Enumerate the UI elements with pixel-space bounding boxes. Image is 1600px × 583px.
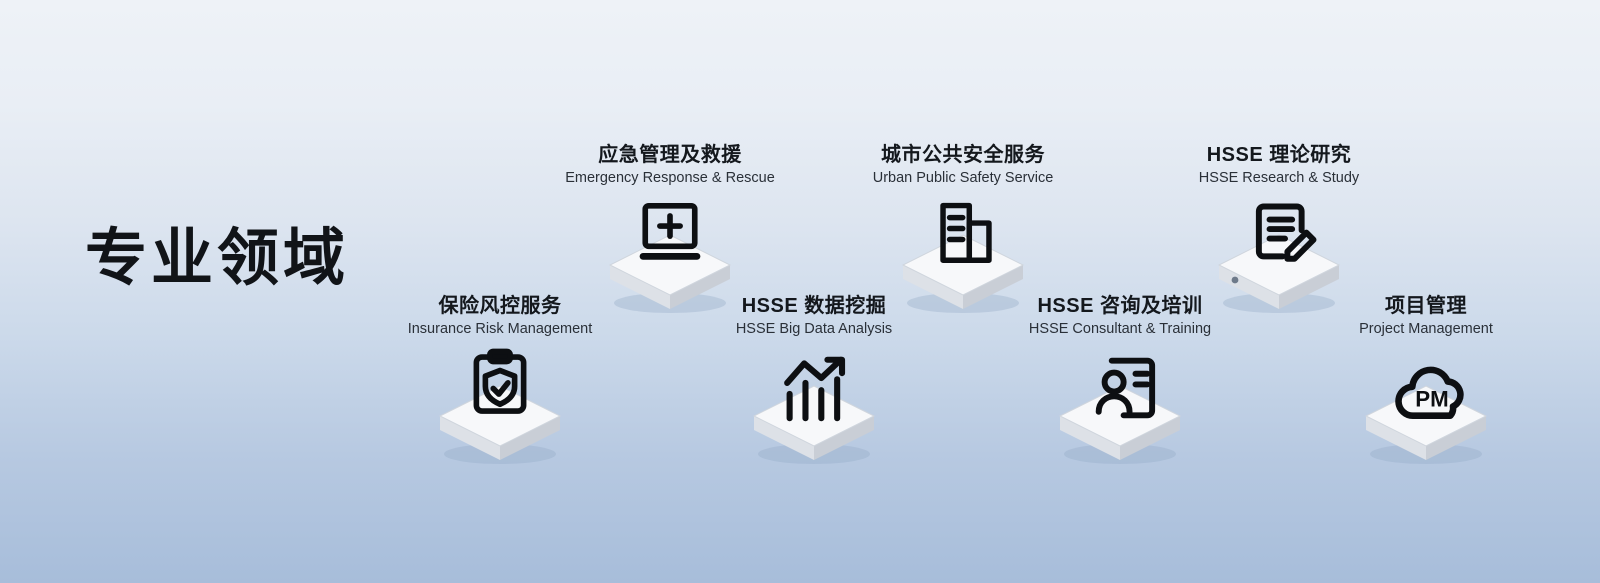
domain-label-en: Emergency Response & Rescue: [520, 170, 820, 187]
domain-item-hsse-consultant-training[interactable]: HSSE 咨询及培训 HSSE Consultant & Training: [970, 295, 1270, 458]
domain-label-en: HSSE Big Data Analysis: [664, 321, 964, 338]
domain-icon-pedestal: [813, 197, 1113, 307]
domain-label-cn: 应急管理及救援: [520, 144, 820, 167]
cloud-pm-icon: PM: [1390, 354, 1474, 438]
domain-item-hsse-research-study[interactable]: HSSE 理论研究 HSSE Research & Study: [1129, 144, 1429, 307]
domain-icon-pedestal: [1129, 197, 1429, 307]
page-title: 专业领域: [85, 228, 349, 290]
domain-icon-pedestal: [970, 348, 1270, 458]
domain-item-insurance-risk-management[interactable]: 保险风控服务 Insurance Risk Management: [350, 295, 650, 458]
bar-chart-trend-arrow-icon: [775, 350, 853, 428]
svg-text:PM: PM: [1415, 386, 1448, 411]
domain-label-cn: HSSE 数据挖掘: [664, 295, 964, 318]
domain-label-en: Urban Public Safety Service: [813, 170, 1113, 187]
domain-label-en: HSSE Research & Study: [1129, 170, 1429, 187]
domain-icon-pedestal: [520, 197, 820, 307]
domain-label-cn: 保险风控服务: [350, 295, 650, 318]
domain-item-urban-public-safety-service[interactable]: 城市公共安全服务 Urban Public Safety Service: [813, 144, 1113, 307]
first-aid-monitor-icon: [634, 199, 706, 271]
domain-label-en: Project Management: [1276, 321, 1576, 338]
domain-label-cn: HSSE 理论研究: [1129, 144, 1429, 167]
domain-label-en: Insurance Risk Management: [350, 321, 650, 338]
document-pencil-icon: [1247, 197, 1323, 273]
domain-label-cn: 项目管理: [1276, 295, 1576, 318]
domain-label-cn: 城市公共安全服务: [813, 144, 1113, 167]
city-buildings-icon: [931, 199, 1001, 269]
clipboard-shield-check-icon: [464, 348, 536, 420]
domain-label-en: HSSE Consultant & Training: [970, 321, 1270, 338]
domain-item-emergency-response-rescue[interactable]: 应急管理及救援 Emergency Response & Rescue: [520, 144, 820, 307]
domain-icon-pedestal: PM: [1276, 348, 1576, 458]
person-id-card-icon: [1088, 350, 1164, 426]
domain-item-project-management[interactable]: 项目管理 Project Management PM: [1276, 295, 1576, 458]
professional-domains-banner: 专业领域 应急管理及救援 Emergency Response & Rescue: [0, 0, 1600, 583]
domain-icon-pedestal: [350, 348, 650, 458]
domain-label-cn: HSSE 咨询及培训: [970, 295, 1270, 318]
domain-item-hsse-big-data-analysis[interactable]: HSSE 数据挖掘 HSSE Big Data Analysis: [664, 295, 964, 458]
domain-icon-pedestal: [664, 348, 964, 458]
